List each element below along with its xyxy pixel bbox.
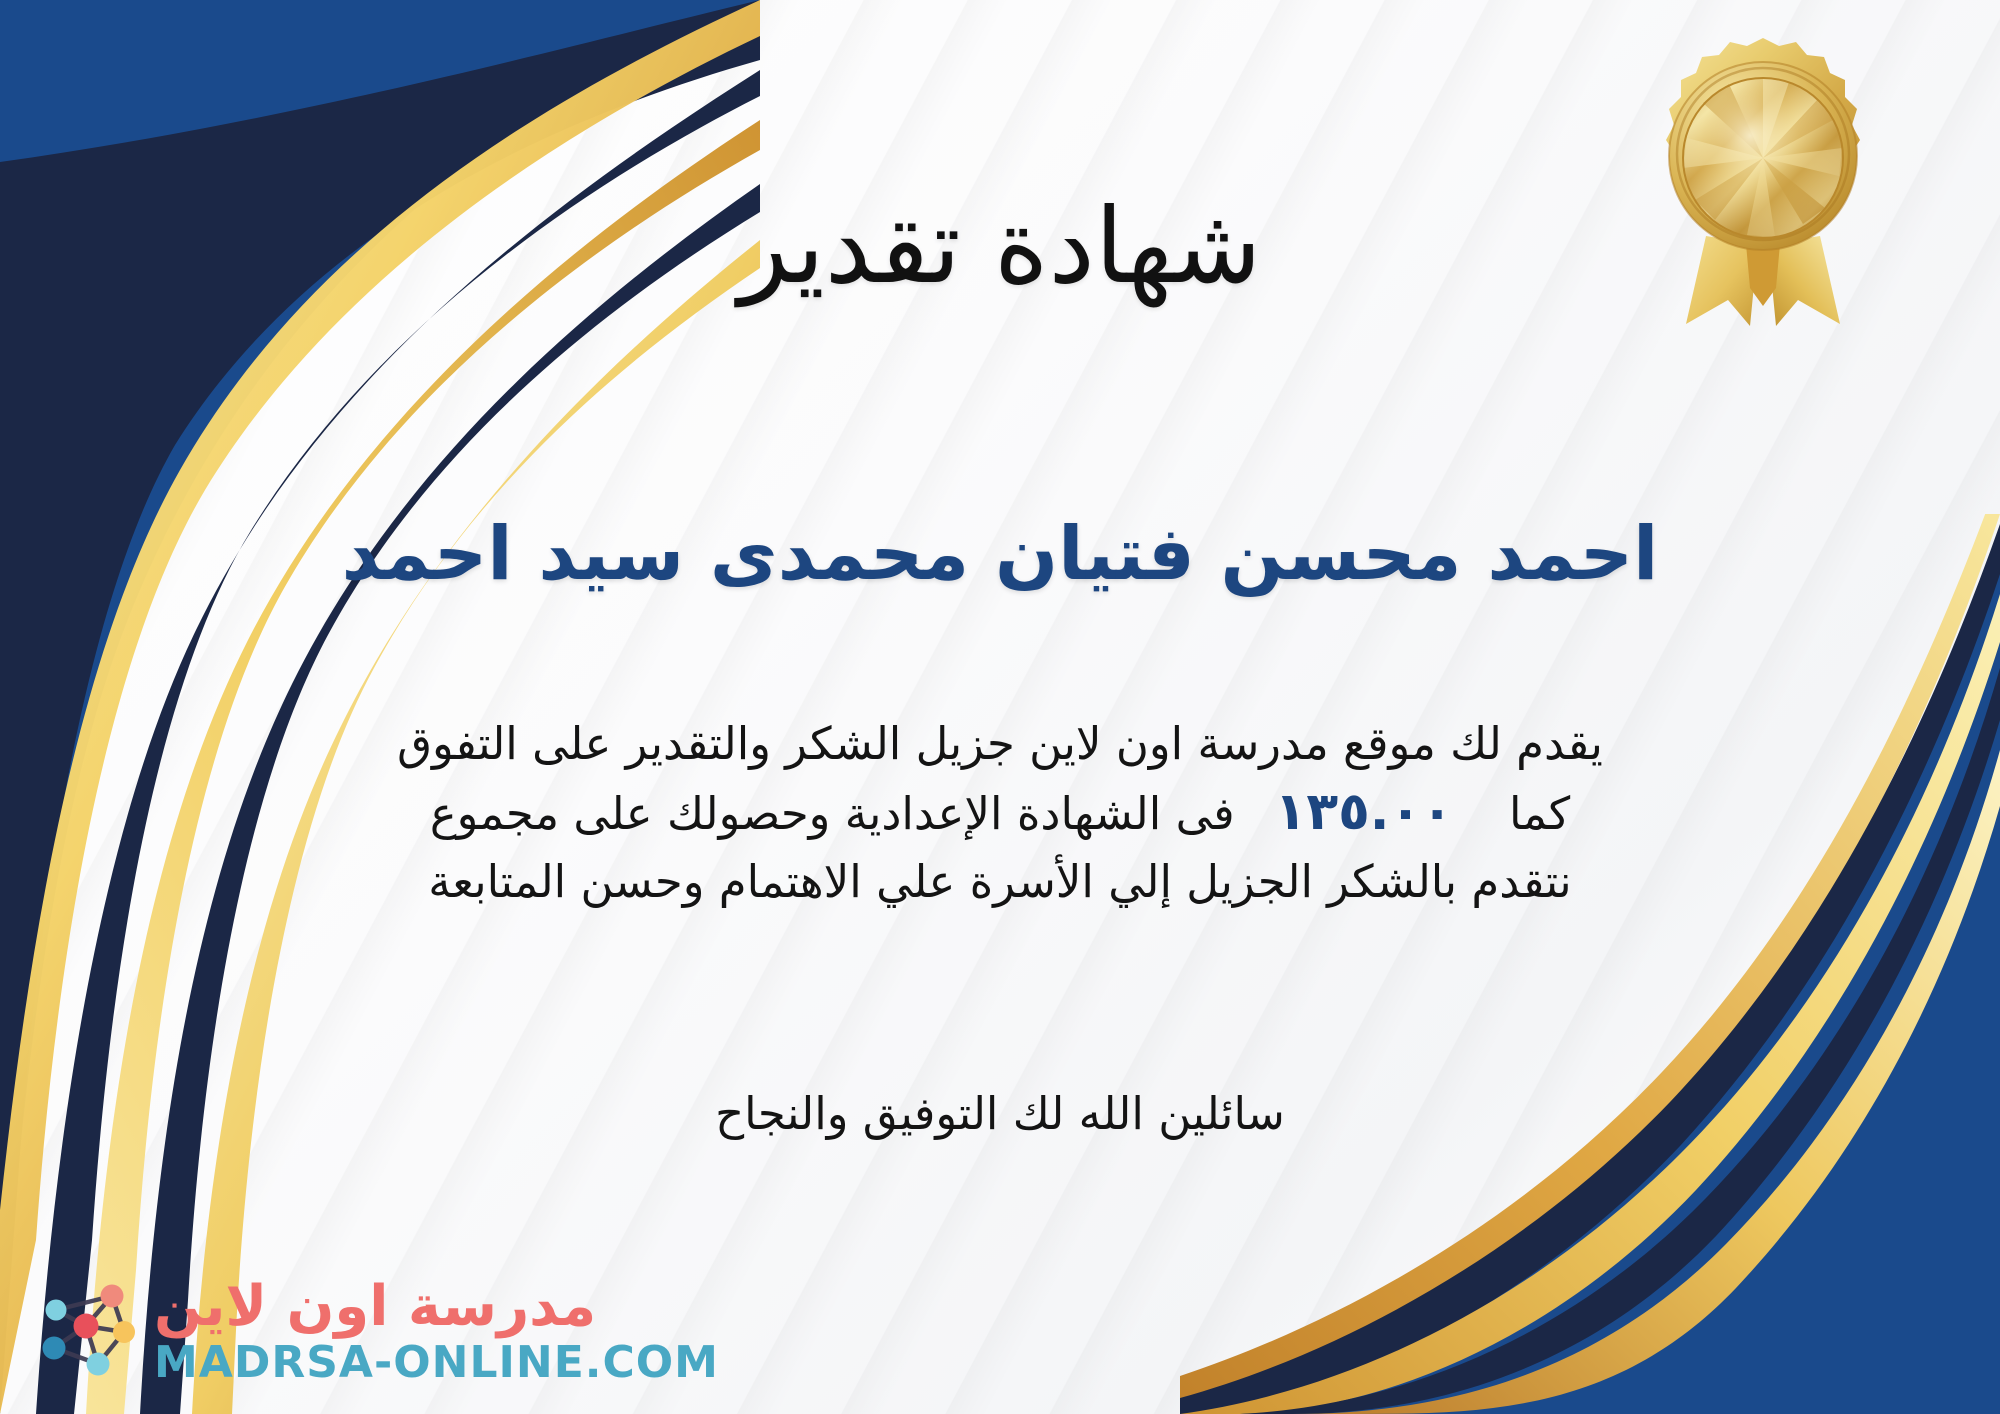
certificate-page: شهادة تقدير احمد محسن فتيان محمدى سيد اح… bbox=[0, 0, 2000, 1414]
recipient-name: احمد محسن فتيان محمدى سيد احمد bbox=[0, 512, 2000, 597]
network-nodes-icon bbox=[28, 1276, 140, 1388]
grade-total-value: ١٣٥.٠٠ bbox=[1235, 776, 1509, 850]
certificate-content: شهادة تقدير احمد محسن فتيان محمدى سيد اح… bbox=[0, 0, 2000, 1414]
brand-logo[interactable]: مدرسة اون لاين MADRSA-ONLINE.COM bbox=[28, 1276, 719, 1388]
certificate-body: يقدم لك موقع مدرسة اون لاين جزيل الشكر و… bbox=[150, 712, 1850, 914]
grade-prefix-text: فى الشهادة الإعدادية وحصولك على مجموع bbox=[430, 782, 1235, 846]
brand-website[interactable]: MADRSA-ONLINE.COM bbox=[154, 1341, 719, 1385]
body-line-1: يقدم لك موقع مدرسة اون لاين جزيل الشكر و… bbox=[150, 712, 1850, 776]
body-line-grade: كما ١٣٥.٠٠ فى الشهادة الإعدادية وحصولك ع… bbox=[150, 776, 1850, 850]
page-title: شهادة تقدير bbox=[0, 188, 2000, 304]
brand-arabic-name: مدرسة اون لاين bbox=[154, 1279, 596, 1341]
body-line-3: نتقدم بالشكر الجزيل إلي الأسرة علي الاهت… bbox=[150, 850, 1850, 914]
grade-suffix-text: كما bbox=[1509, 782, 1570, 846]
closing-line: سائلين الله لك التوفيق والنجاح bbox=[0, 1082, 2000, 1145]
brand-text: مدرسة اون لاين MADRSA-ONLINE.COM bbox=[154, 1279, 719, 1385]
